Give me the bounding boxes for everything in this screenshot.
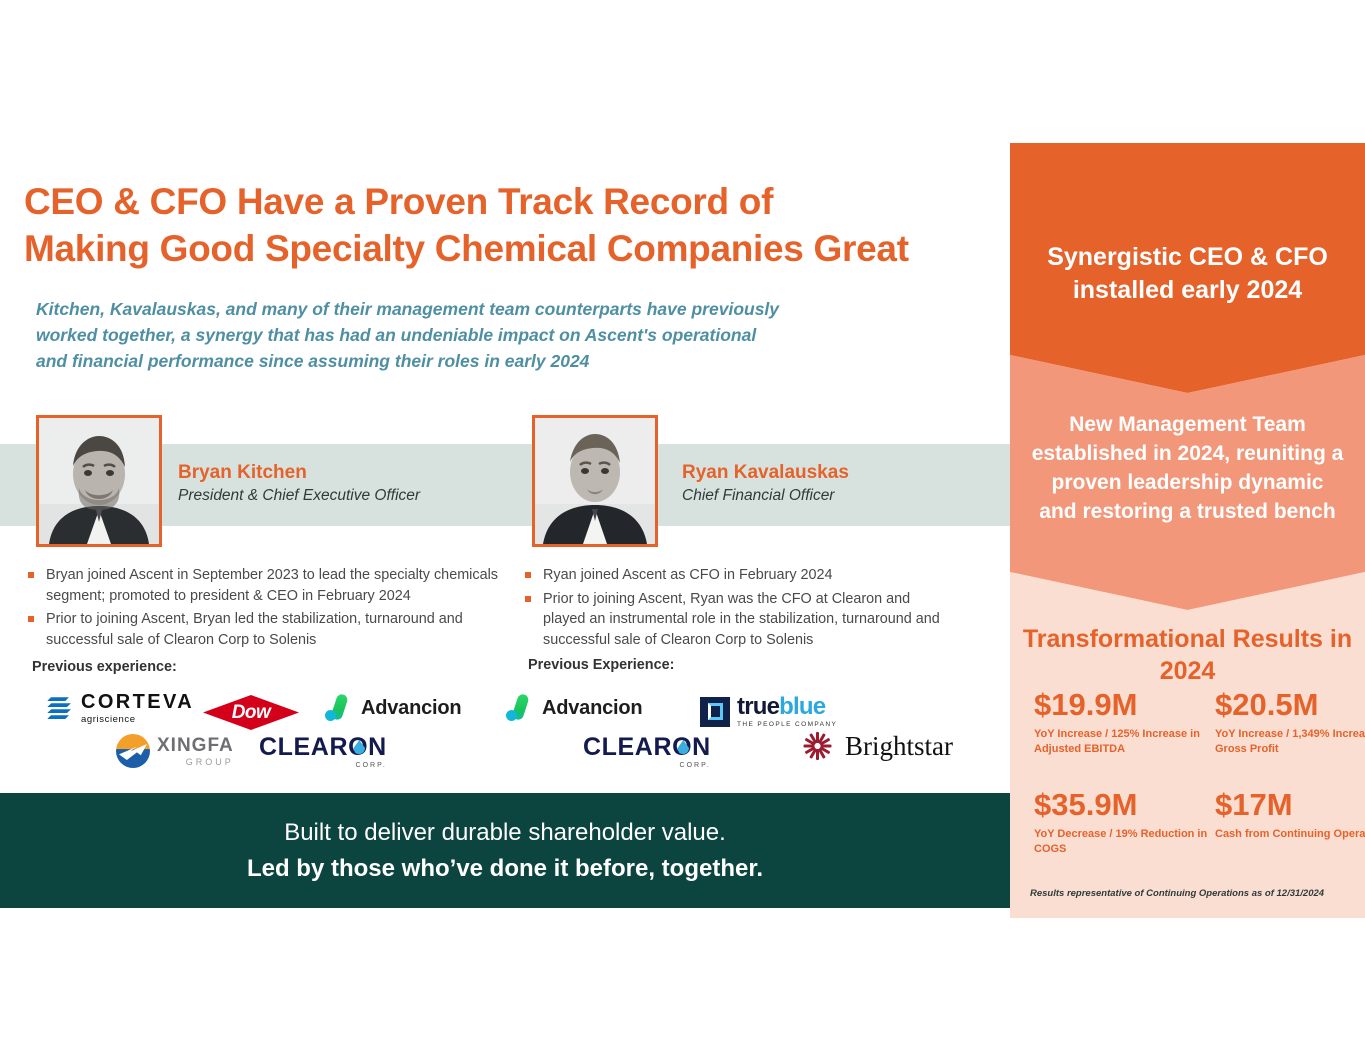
previous-experience-label-2: Previous Experience:	[528, 657, 674, 673]
exec-bullets-2: Ryan joined Ascent as CFO in February 20…	[519, 565, 949, 653]
stat-label: YoY Increase / 1,349% Increase in Gross …	[1215, 727, 1365, 757]
clearon-tagline: CORP.	[680, 762, 711, 769]
bullet-text: Bryan joined Ascent in September 2023 to…	[46, 567, 498, 604]
list-item: Bryan joined Ascent in September 2023 to…	[22, 565, 502, 606]
subtitle-line-2: worked together, a synergy that has had …	[36, 322, 936, 348]
headshot-photo	[39, 418, 159, 544]
results-title: Transformational Results in 2024	[1010, 623, 1365, 687]
logo-brightstar: Brightstar	[800, 729, 953, 763]
bullet-square-icon	[28, 572, 34, 578]
xingfa-wordmark: XINGFA GROUP	[157, 736, 234, 767]
advancion-icon	[325, 694, 353, 722]
list-item: Prior to joining Ascent, Ryan was the CF…	[519, 589, 949, 651]
brightstar-sunburst-icon	[800, 729, 836, 763]
stat-label: YoY Increase / 125% Increase in Adjusted…	[1034, 727, 1212, 757]
subtitle-line-1: Kitchen, Kavalauskas, and many of their …	[36, 296, 936, 322]
logo-corteva: CORTEVA agriscience	[44, 692, 194, 725]
logo-advancion-right: Advancion	[506, 694, 642, 722]
logo-xingfa: XINGFA GROUP	[116, 734, 234, 768]
corteva-icon	[44, 693, 74, 723]
exec-role-2: Chief Financial Officer	[682, 487, 834, 505]
trueblue-icon	[700, 697, 730, 727]
advancion-name: Advancion	[361, 697, 461, 720]
stat-card-gross-profit: $20.5M YoY Increase / 1,349% Increase in…	[1215, 688, 1365, 757]
footer-tagline-band: Built to deliver durable shareholder val…	[0, 793, 1010, 908]
trueblue-wordmark: trueblue THE PEOPLE COMPANY	[737, 695, 837, 729]
list-item: Prior to joining Ascent, Bryan led the s…	[22, 609, 502, 650]
headshot-photo	[535, 418, 655, 544]
advancion-dot	[325, 710, 336, 721]
xingfa-swoosh	[119, 744, 147, 760]
logo-clearon-right: CLEARON CORP.	[583, 735, 711, 769]
subtitle-line-3: and financial performance since assuming…	[36, 348, 936, 374]
footnote: Results representative of Continuing Ope…	[1030, 888, 1360, 899]
footer-line-1: Built to deliver durable shareholder val…	[284, 815, 726, 851]
bullet-text: Prior to joining Ascent, Ryan was the CF…	[543, 591, 940, 648]
stat-value: $20.5M	[1215, 688, 1365, 722]
stat-card-cash: $17M Cash from Continuing Operations	[1215, 788, 1365, 842]
clearon-name: CLEARON	[259, 735, 387, 760]
xingfa-icon	[116, 734, 150, 768]
advancion-name: Advancion	[542, 697, 642, 720]
logo-advancion-left: Advancion	[325, 694, 461, 722]
advancion-icon	[506, 694, 534, 722]
chevron-2-text: New Management Team established in 2024,…	[1010, 410, 1365, 526]
list-item: Ryan joined Ascent as CFO in February 20…	[519, 565, 949, 586]
subtitle: Kitchen, Kavalauskas, and many of their …	[36, 296, 936, 374]
stat-card-cogs: $35.9M YoY Decrease / 19% Reduction in C…	[1034, 788, 1212, 857]
bullet-square-icon	[525, 596, 531, 602]
logo-clearon-left: CLEARON CORP.	[259, 735, 387, 769]
clearon-wordmark: CLEARON CORP.	[583, 735, 711, 769]
title-line-2: Making Good Specialty Chemical Companies…	[24, 225, 984, 272]
clearon-wordmark: CLEARON CORP.	[259, 735, 387, 769]
bullet-text: Prior to joining Ascent, Bryan led the s…	[46, 611, 463, 648]
logo-trueblue: trueblue THE PEOPLE COMPANY	[700, 695, 837, 729]
advancion-dot	[506, 710, 517, 721]
stat-card-ebitda: $19.9M YoY Increase / 125% Increase in A…	[1034, 688, 1212, 757]
exec-name-2: Ryan Kavalauskas	[682, 462, 849, 484]
avatar-bryan-kitchen	[36, 415, 162, 547]
exec-role-1: President & Chief Executive Officer	[178, 487, 420, 505]
stat-label: YoY Decrease / 19% Reduction in COGS	[1034, 827, 1212, 857]
xingfa-name: XINGFA	[157, 736, 234, 755]
stat-label: Cash from Continuing Operations	[1215, 827, 1365, 842]
corteva-wordmark: CORTEVA agriscience	[81, 692, 194, 725]
stat-value: $35.9M	[1034, 788, 1212, 822]
trueblue-name: trueblue	[737, 695, 837, 719]
trueblue-tagline: THE PEOPLE COMPANY	[737, 722, 837, 729]
dow-diamond-icon: Dow	[203, 695, 299, 730]
logo-dow: Dow	[203, 695, 299, 730]
dow-name: Dow	[232, 702, 271, 724]
corteva-name: CORTEVA	[81, 692, 194, 712]
clearon-tagline: CORP.	[356, 762, 387, 769]
title-line-1: CEO & CFO Have a Proven Track Record of	[24, 178, 984, 225]
bullet-text: Ryan joined Ascent as CFO in February 20…	[543, 567, 833, 583]
xingfa-tagline: GROUP	[157, 758, 234, 767]
brightstar-name: Brightstar	[845, 731, 953, 762]
exec-name-1: Bryan Kitchen	[178, 462, 307, 484]
right-summary-panel: Synergistic CEO & CFO installed early 20…	[1010, 143, 1365, 918]
chevron-1-text: Synergistic CEO & CFO installed early 20…	[1010, 241, 1365, 307]
stat-value: $17M	[1215, 788, 1365, 822]
previous-experience-label-1: Previous experience:	[32, 659, 177, 675]
exec-bullets-1: Bryan joined Ascent in September 2023 to…	[22, 565, 502, 653]
corteva-tagline: agriscience	[81, 715, 194, 725]
bullet-square-icon	[28, 616, 34, 622]
page-title: CEO & CFO Have a Proven Track Record of …	[24, 178, 984, 272]
stat-value: $19.9M	[1034, 688, 1212, 722]
clearon-name: CLEARON	[583, 735, 711, 760]
bullet-square-icon	[525, 572, 531, 578]
footer-line-2: Led by those who’ve done it before, toge…	[247, 851, 763, 887]
avatar-ryan-kavalauskas	[532, 415, 658, 547]
slide-main-content: CEO & CFO Have a Proven Track Record of …	[0, 0, 1010, 1055]
